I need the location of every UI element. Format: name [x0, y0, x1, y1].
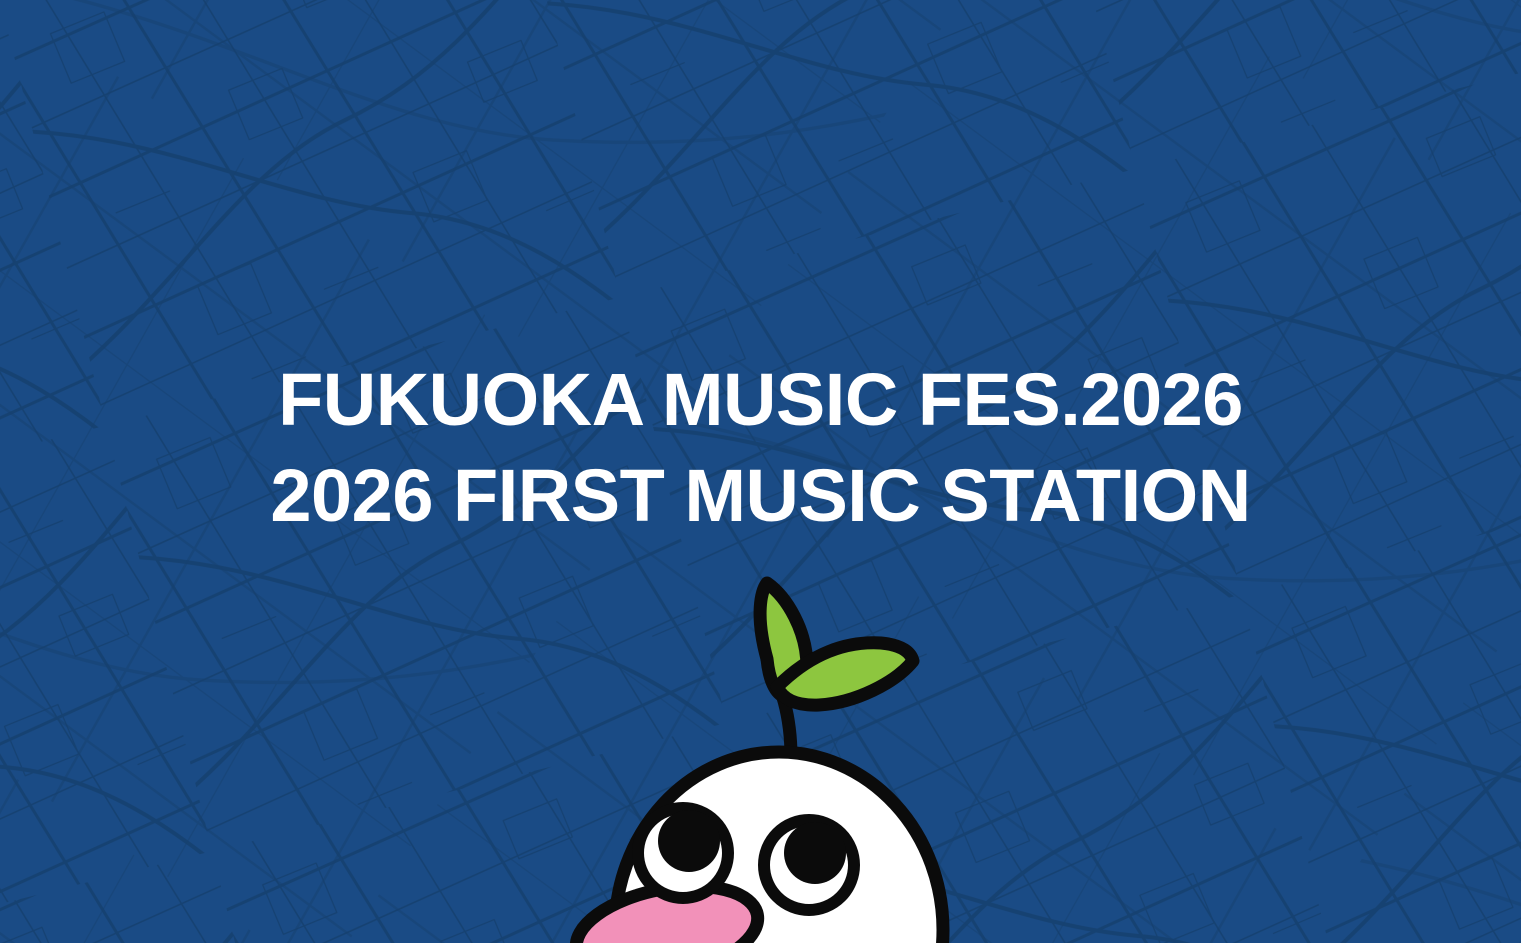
mascot-character: [555, 575, 985, 943]
page-root: FUKUOKA MUSIC FES.2026 2026 FIRST MUSIC …: [0, 0, 1521, 943]
eye-right-icon: [764, 820, 854, 910]
eye-left-icon: [638, 808, 728, 898]
